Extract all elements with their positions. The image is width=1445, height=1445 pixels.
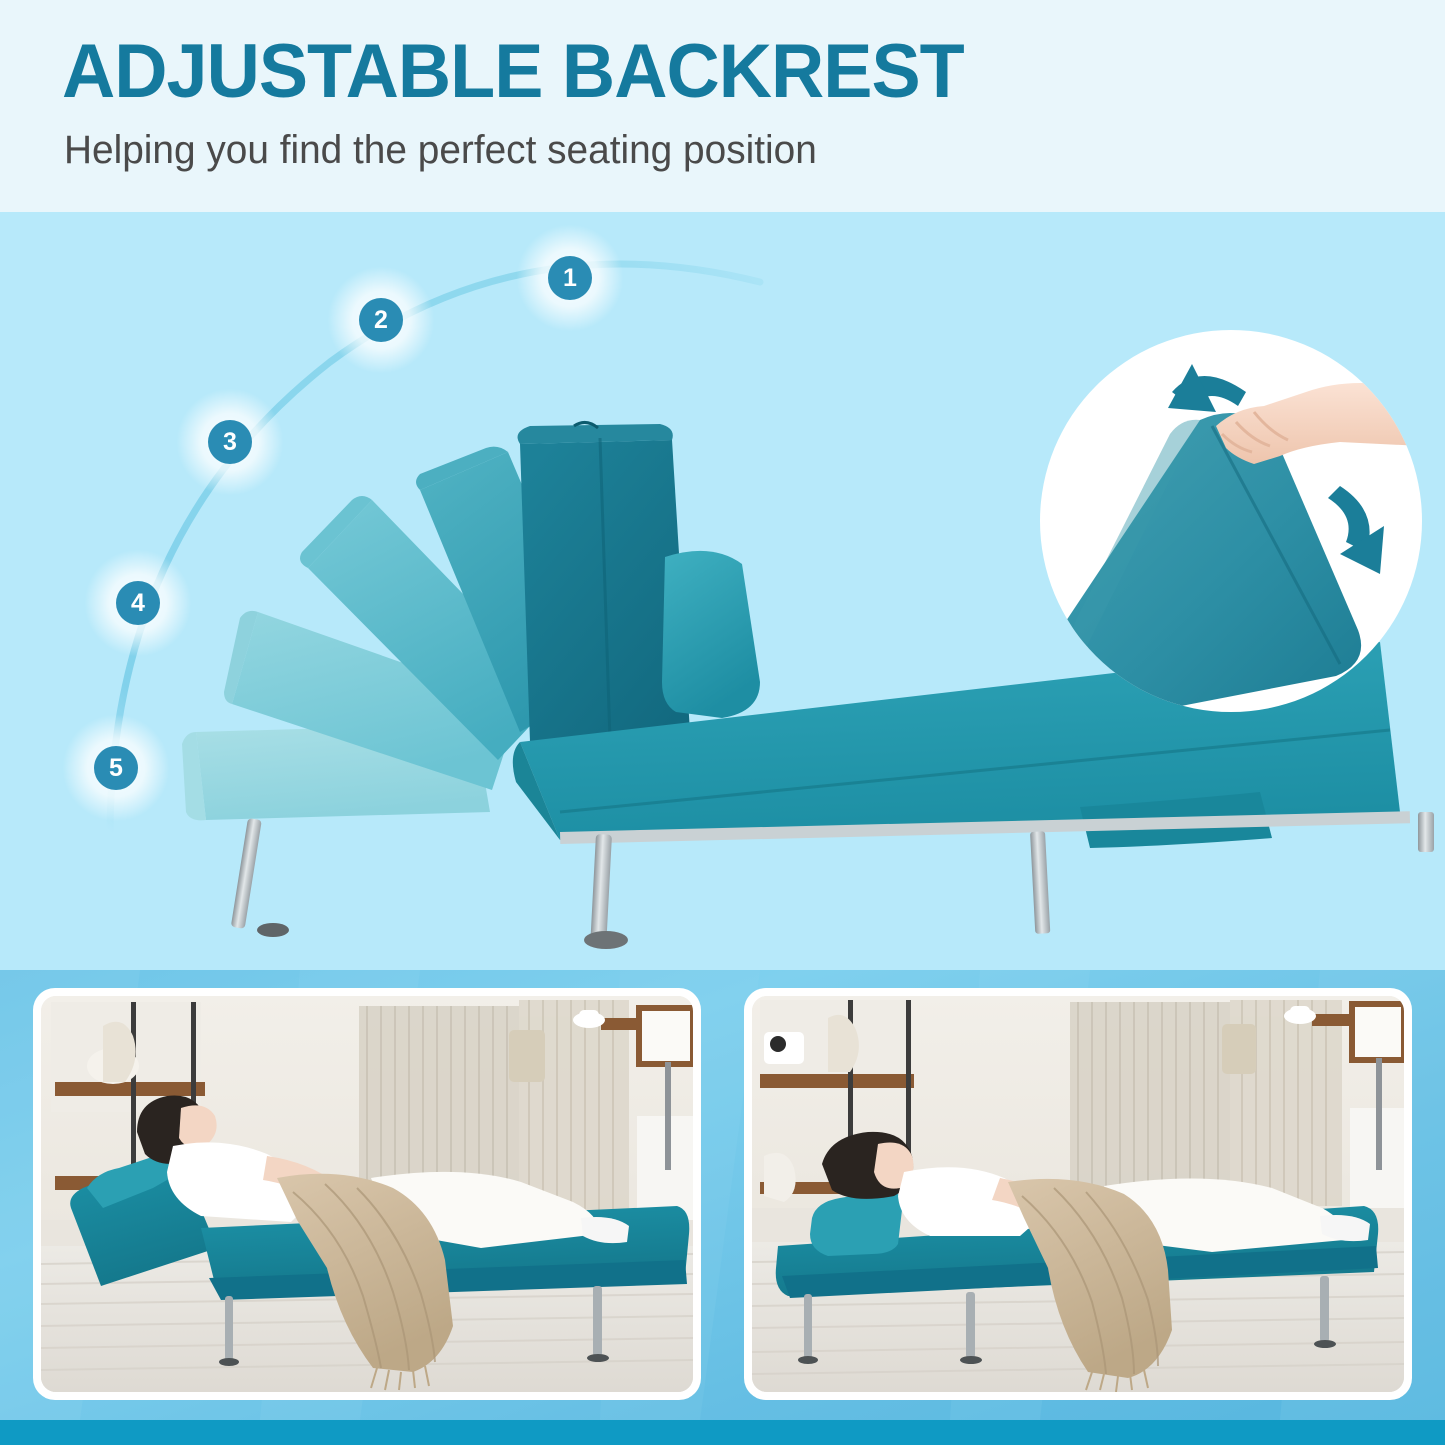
lifestyle-photo-band xyxy=(0,970,1445,1420)
recline-level-badge-1[interactable]: 1 xyxy=(548,256,592,300)
footer-bar xyxy=(0,1420,1445,1445)
hand-adjust-inset xyxy=(1040,330,1422,712)
recline-level-badge-3[interactable]: 3 xyxy=(208,420,252,464)
page-title: ADJUSTABLE BACKREST xyxy=(62,34,964,110)
recline-level-badge-4[interactable]: 4 xyxy=(116,581,160,625)
rotate-forward-arrow-icon xyxy=(1328,486,1384,574)
lifestyle-card-left xyxy=(33,988,701,1400)
page-subtitle: Helping you find the perfect seating pos… xyxy=(64,130,817,170)
lifestyle-card-right xyxy=(744,988,1412,1400)
recline-level-badge-2[interactable]: 2 xyxy=(359,298,403,342)
reclined-backrest-photo xyxy=(41,996,693,1392)
product-feature-graphic: ADJUSTABLE BACKREST Helping you find the… xyxy=(0,0,1445,1445)
rotate-back-arrow-icon xyxy=(1168,364,1246,412)
header-band: ADJUSTABLE BACKREST Helping you find the… xyxy=(0,0,1445,212)
recline-level-badge-5[interactable]: 5 xyxy=(94,746,138,790)
flat-bed-photo xyxy=(752,996,1404,1392)
hero-illustration: 1 2 3 4 5 xyxy=(0,212,1445,970)
